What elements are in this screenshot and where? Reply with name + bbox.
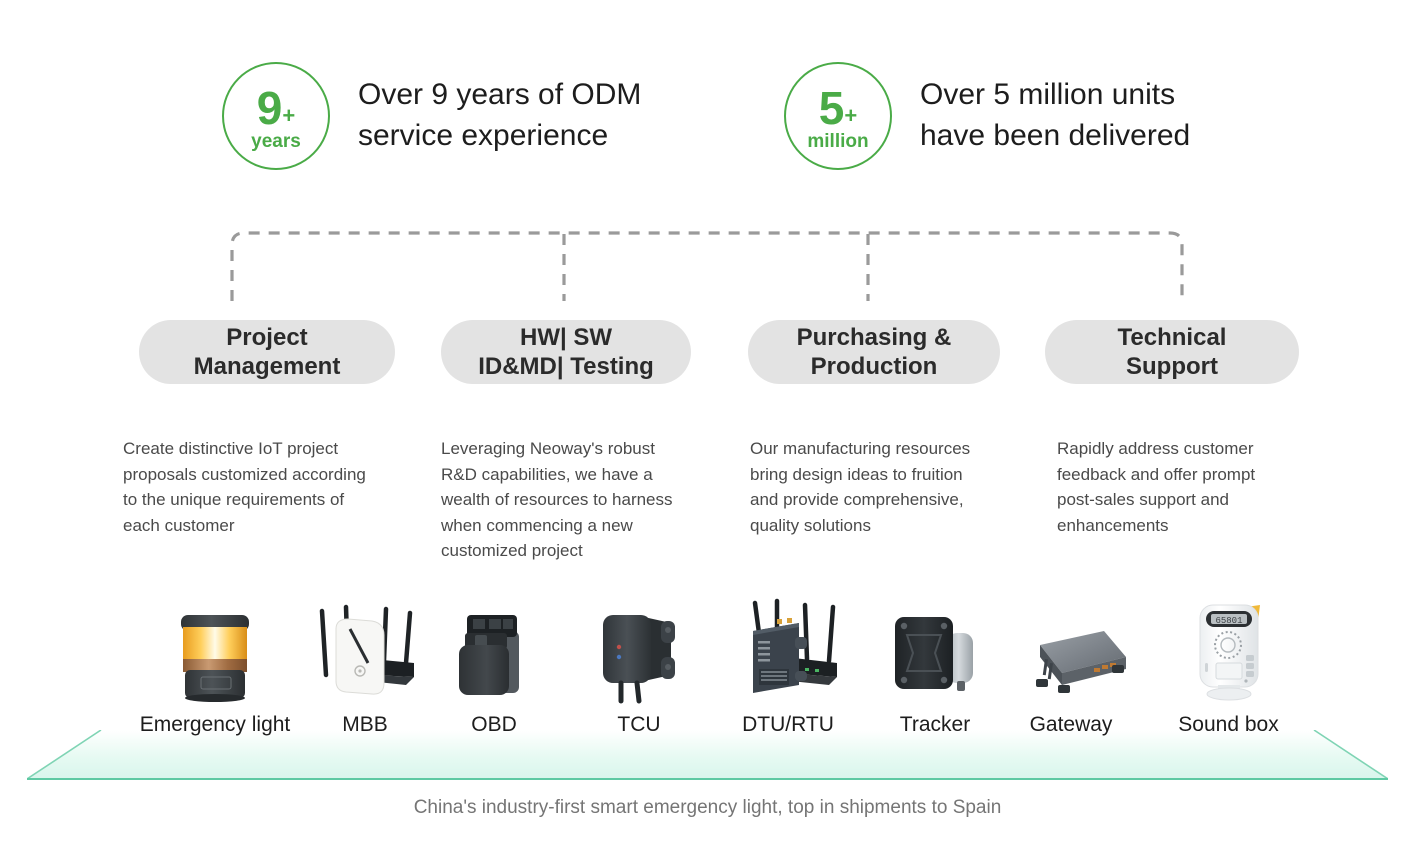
stat-description: Over 9 years of ODM service experience [358,75,641,157]
product-obd[interactable]: OBD [435,598,553,737]
product-label: Sound box [1178,713,1278,737]
stat-topline: 9 + [257,87,295,131]
product-label: OBD [471,713,517,737]
band-right-edge [1308,730,1388,780]
band-bottom-rule [27,778,1388,780]
pillar-description-technical-support: Rapidly address customer feedback and of… [1057,436,1337,538]
stat-number: 5 [819,87,844,131]
stat-description: Over 5 million units have been delivered [920,75,1190,157]
pillar-title-purchasing-production[interactable]: Purchasing & Production [748,320,1000,384]
sound-box-icon: 65801 [1188,597,1270,705]
product-image-wrap [171,605,259,705]
stat-block-years: 9 + years Over 9 years of ODM service ex… [222,62,641,170]
stat-plus-sign: + [282,105,295,127]
product-dtu-rtu[interactable]: DTU/RTU [714,595,862,737]
pillar-title-technical-support[interactable]: Technical Support [1045,320,1299,384]
gateway-icon [1012,617,1130,705]
tracker-icon [885,605,985,705]
product-label: Gateway [1030,713,1113,737]
stat-number: 9 [257,87,282,131]
product-label: Emergency light [140,713,291,737]
stat-unit-label: million [807,132,868,151]
pillar-title-hw-sw[interactable]: HW| SW ID&MD| Testing [441,320,691,384]
bottom-caption: China's industry-first smart emergency l… [0,797,1415,819]
product-tcu[interactable]: TCU [580,598,698,737]
pillar-title-project-management[interactable]: Project Management [139,320,395,384]
stat-topline: 5 + [819,87,857,131]
dashed-bracket-connector [230,231,1184,303]
stat-circle-years: 9 + years [222,62,330,170]
product-mbb[interactable]: MBB [306,598,424,737]
product-label: Tracker [900,713,970,737]
svg-text:65801: 65801 [1215,616,1242,626]
product-image-wrap [885,598,985,705]
stat-circle-million: 5 + million [784,62,892,170]
product-image-wrap [1012,598,1130,705]
product-image-wrap [589,598,689,705]
obd-dongle-icon [449,605,539,705]
bottom-gradient-band [27,730,1388,780]
infographic-root: 9 + years Over 9 years of ODM service ex… [0,0,1415,866]
product-sound-box[interactable]: 65801 Sound box [1161,595,1296,737]
emergency-light-icon [171,609,259,705]
tcu-module-icon [589,603,689,705]
band-left-edge [27,730,107,780]
product-image-wrap: 65801 [1188,595,1270,705]
product-tracker[interactable]: Tracker [876,598,994,737]
product-image-wrap [449,598,539,705]
product-label: DTU/RTU [742,713,834,737]
pillar-description-project-management: Create distinctive IoT project proposals… [123,436,413,538]
product-image-wrap [310,598,420,705]
mbb-router-icon [310,601,420,705]
product-image-wrap [725,595,851,705]
product-label: TCU [617,713,660,737]
product-emergency-light[interactable]: Emergency light [124,605,306,737]
stat-unit-label: years [251,132,301,151]
product-label: MBB [342,713,388,737]
pillar-description-hw-sw: Leveraging Neoway's robust R&D capabilit… [441,436,726,564]
product-gateway[interactable]: Gateway [1012,598,1130,737]
stat-plus-sign: + [844,105,857,127]
stat-block-units: 5 + million Over 5 million units have be… [784,62,1190,170]
dtu-rtu-icon [725,597,851,705]
pillar-description-purchasing-production: Our manufacturing resources bring design… [750,436,1040,538]
